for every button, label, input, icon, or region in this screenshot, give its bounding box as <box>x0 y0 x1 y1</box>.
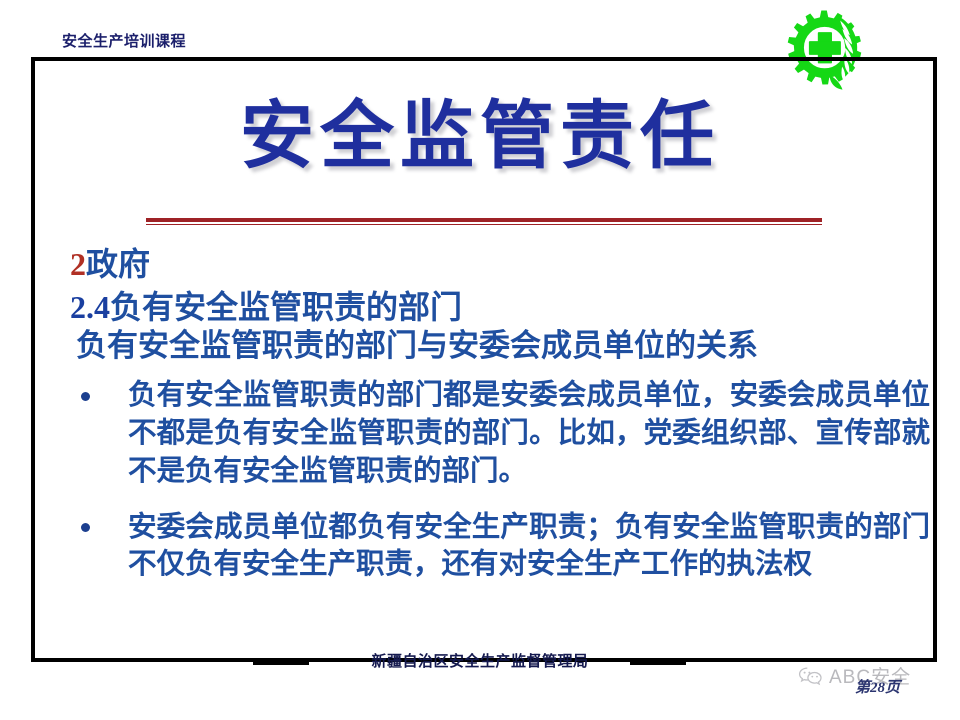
title-divider <box>146 218 822 225</box>
bullet-item-2-text: 安委会成员单位都负有安全生产职责；负有安全监管职责的部门不仅负有安全生产职责，还… <box>128 512 930 581</box>
bullet-dot-icon <box>81 523 90 532</box>
page-number: 第28页 <box>855 676 900 697</box>
bullet-item-2: 安委会成员单位都负有安全生产职责；负有安全监管职责的部门不仅负有安全生产职责，还… <box>70 509 930 585</box>
subsection-number: 2.4 <box>70 289 110 325</box>
course-title: 安全生产培训课程 <box>62 30 186 51</box>
bullet-dot-icon <box>81 392 90 401</box>
section-label: 政府 <box>86 246 150 282</box>
section-heading: 2政府 <box>70 245 930 284</box>
subsection-label: 负有安全监管职责的部门 <box>110 289 462 325</box>
relationship-statement: 负有安全监管职责的部门与安委会成员单位的关系 <box>76 327 930 365</box>
bullet-item-1-text: 负有安全监管职责的部门都是安委会成员单位，安委会成员单位不都是负有安全监管职责的… <box>128 380 930 487</box>
section-number: 2 <box>70 246 86 282</box>
slide-canvas: 安全生产培训课程 <box>0 0 960 720</box>
bullet-item-1: 负有安全监管职责的部门都是安委会成员单位，安委会成员单位不都是负有安全监管职责的… <box>70 377 930 491</box>
page-title: 安全监管责任 <box>0 100 960 174</box>
wechat-icon <box>798 666 824 686</box>
content-body: 2政府 2.4负有安全监管职责的部门 负有安全监管职责的部门与安委会成员单位的关… <box>70 245 930 584</box>
subsection-heading: 2.4负有安全监管职责的部门 <box>70 288 930 327</box>
